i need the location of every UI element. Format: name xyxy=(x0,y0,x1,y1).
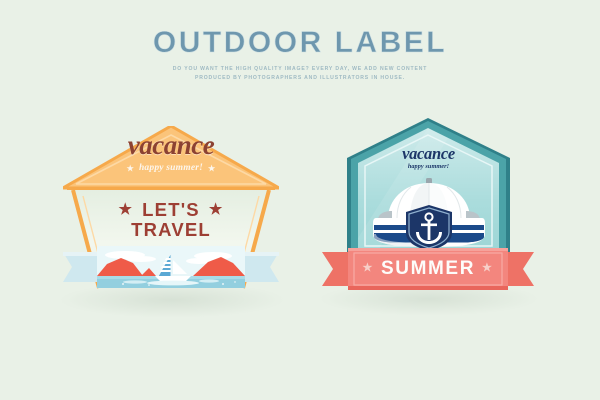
poster-canvas: OUTDOOR LABEL DO YOU WANT THE HIGH QUALI… xyxy=(0,0,600,400)
page-title: OUTDOOR LABEL xyxy=(0,28,600,58)
travel-badge[interactable]: vacance ★ happy summer! ★ ★ LET'S ★ TRAV… xyxy=(63,126,279,298)
summer-ribbon xyxy=(322,246,534,294)
header: OUTDOOR LABEL DO YOU WANT THE HIGH QUALI… xyxy=(0,28,600,84)
subtitle-line-2: PRODUCED BY PHOTOGRAPHERS AND ILLUSTRATO… xyxy=(0,74,600,83)
sailor-hat-illustration xyxy=(368,178,490,250)
subtitle-line-1: DO YOU WANT THE HIGH QUALITY IMAGE? EVER… xyxy=(0,65,600,74)
travel-badge-roof xyxy=(63,126,279,192)
summer-badge[interactable]: vacance happy summer! xyxy=(322,118,534,296)
sailboat-seascape-illustration xyxy=(63,246,279,294)
header-subtitle: DO YOU WANT THE HIGH QUALITY IMAGE? EVER… xyxy=(0,65,600,84)
